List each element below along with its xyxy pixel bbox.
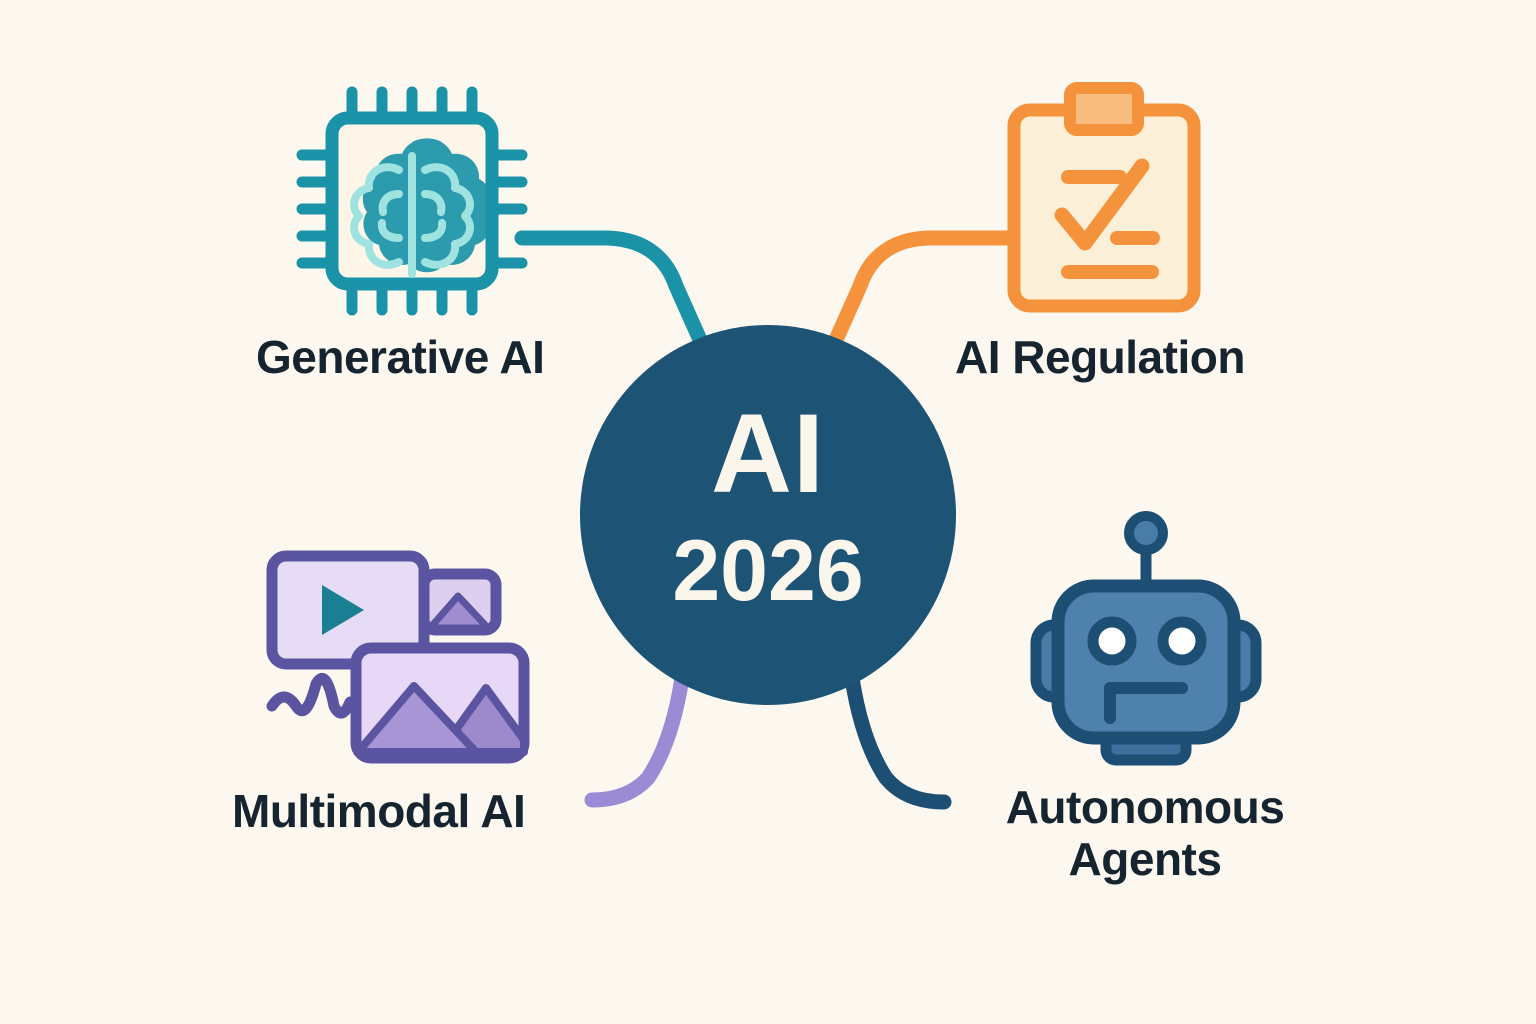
cpu-brain-icon[interactable] — [302, 92, 522, 310]
clipboard-check-icon[interactable] — [1014, 88, 1194, 306]
mindmap-canvas: AI 2026 Generative AI AI Regulation Mult… — [0, 0, 1536, 1024]
center-node[interactable] — [580, 325, 956, 705]
connector-autonomous-agents — [852, 678, 944, 802]
waveform-icon — [272, 678, 350, 713]
connector-multimodal-ai — [592, 678, 682, 800]
branch-label-autonomous-agents[interactable]: Autonomous Agents — [975, 782, 1315, 885]
robot-head — [1058, 586, 1234, 738]
robot-antenna-bulb — [1129, 516, 1163, 550]
robot-eye-right — [1163, 622, 1201, 660]
media-stack-icon[interactable] — [272, 556, 524, 758]
branch-label-ai-regulation[interactable]: AI Regulation — [955, 332, 1245, 384]
robot-eye-left — [1093, 622, 1131, 660]
center-node-circle[interactable] — [580, 325, 956, 705]
branch-label-generative-ai[interactable]: Generative AI — [256, 332, 544, 384]
robot-head-icon[interactable] — [1036, 516, 1256, 760]
branch-label-multimodal-ai[interactable]: Multimodal AI — [232, 786, 525, 838]
clipboard-clip — [1070, 88, 1138, 130]
